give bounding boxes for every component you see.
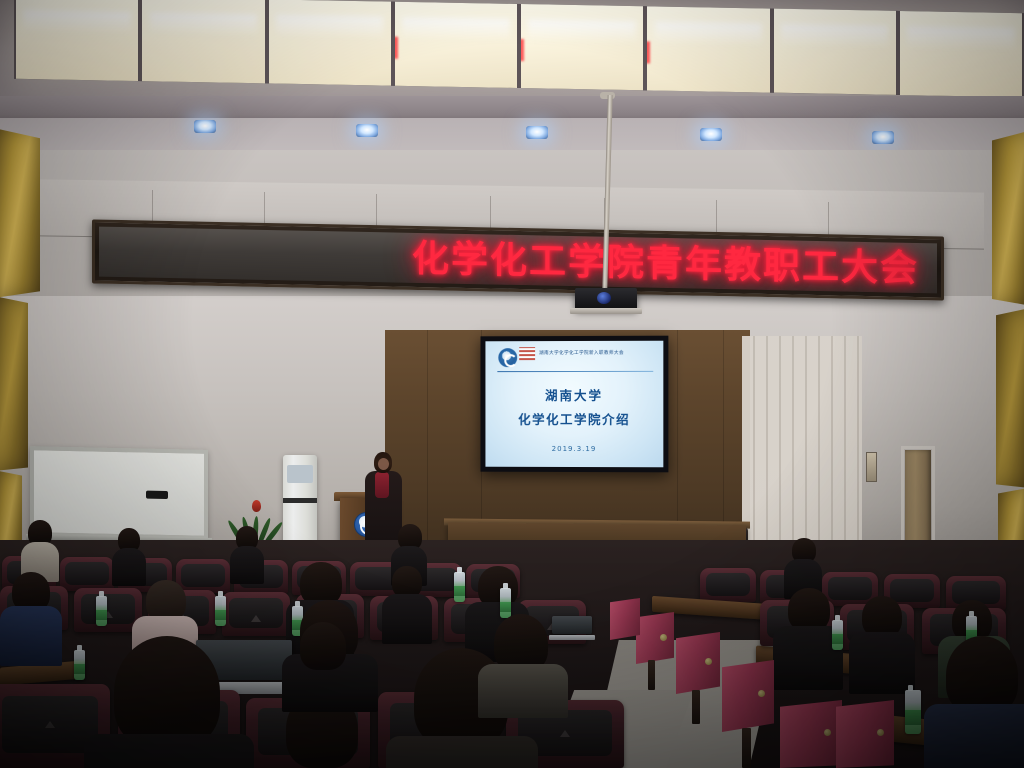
acoustic-panel-right-mid [996, 308, 1024, 488]
ceiling-downlight [700, 128, 722, 141]
whiteboard-eraser [146, 491, 168, 499]
seat-side-panel [636, 612, 674, 664]
projection-screen-surface: 湖南大学化学化工学院新入职教师大会 湖南大学 化学化工学院介绍 2019.3.1… [485, 341, 663, 468]
ceiling-light-panel [267, 0, 393, 86]
seat-leg [692, 690, 700, 724]
ceiling-downlight [194, 120, 216, 133]
projector-lens-icon [597, 292, 611, 304]
seat [60, 557, 114, 591]
presenter-scarf [375, 472, 389, 498]
seat-side-panel [780, 700, 842, 768]
plant-flower-icon [252, 500, 261, 512]
slide-date: 2019.3.19 [485, 445, 663, 453]
ceiling-projector [575, 288, 637, 310]
acoustic-panel-left-upper [0, 128, 40, 298]
led-banner-text: 化学化工学院青年教职工大会 [412, 239, 937, 287]
slide-divider [497, 371, 653, 372]
seat-leg [742, 728, 751, 768]
ceiling-light-panel [645, 6, 771, 92]
ceiling-downlight [356, 124, 378, 137]
wall-control-panel[interactable] [866, 452, 877, 482]
whiteboard [30, 446, 208, 540]
presenter-face [378, 458, 389, 470]
seat-side-panel [610, 598, 640, 640]
seat-leg [648, 660, 655, 690]
ceiling-light-panel [519, 4, 645, 90]
seat [176, 559, 230, 593]
slide-title-line1: 湖南大学 [485, 385, 663, 404]
university-logo-icon [498, 348, 517, 367]
ceiling-light-panel [140, 0, 266, 83]
ceiling-light-panel [898, 11, 1024, 97]
acoustic-panel-right-upper [992, 130, 1024, 306]
seat-side-panel [836, 700, 894, 768]
ceiling-light-panel [393, 2, 519, 88]
projector-base [570, 308, 642, 314]
laptop-base [549, 635, 595, 640]
ceiling-downlight [526, 126, 548, 139]
seat-side-panel [676, 632, 720, 694]
ceiling-downlight [872, 131, 894, 144]
seat-side-panel [722, 660, 774, 732]
laptop[interactable] [552, 616, 592, 640]
acoustic-panel-left-mid [0, 296, 28, 471]
led-banner-screen: 化学化工学院青年教职工大会 [99, 227, 937, 294]
projection-screen: 湖南大学化学化工学院新入职教师大会 湖南大学 化学化工学院介绍 2019.3.1… [480, 336, 668, 473]
ceiling-light-panel [14, 0, 140, 81]
slide-header-text: 湖南大学化学化工学院新入职教师大会 [539, 350, 655, 356]
seat [222, 592, 290, 636]
ac-vent-icon [287, 465, 313, 483]
auditorium-photo: 化学化工学院青年教职工大会 湖南大学化学化工学院新入职教师大会 湖南大学 化学化… [0, 0, 1024, 768]
seat [700, 568, 756, 602]
logo-stripe-icon [519, 347, 535, 360]
ac-band [283, 498, 317, 503]
stage-right-slat-wall [742, 336, 862, 551]
ceiling-light-panel [772, 9, 898, 95]
laptop-screen [552, 616, 592, 634]
slide-title-line2: 化学化工学院介绍 [485, 409, 663, 428]
